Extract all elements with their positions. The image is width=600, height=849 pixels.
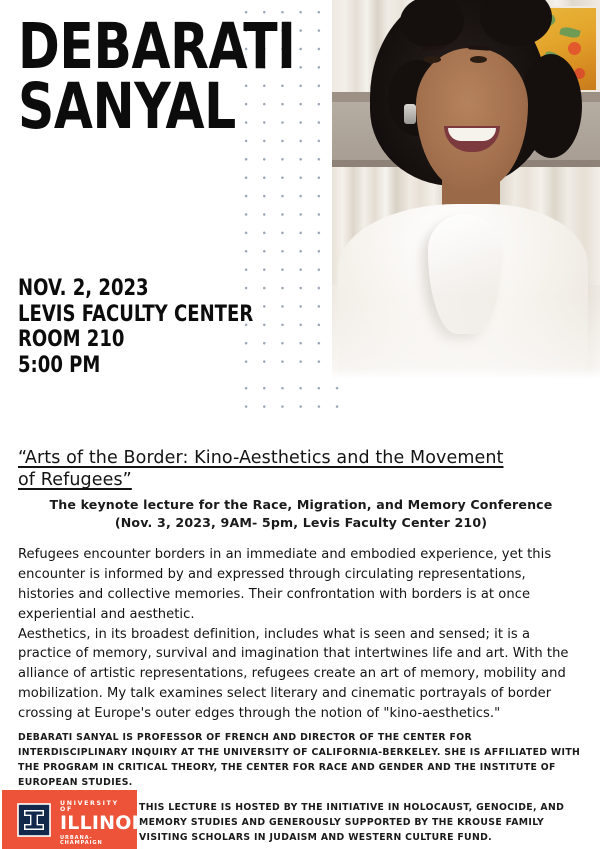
poster-footer: UNIVERSITY OF ILLINOIS URBANA-CHAMPAIGN … [0,790,600,849]
event-room: ROOM 210 [18,327,253,353]
university-of-illinois-logo: UNIVERSITY OF ILLINOIS URBANA-CHAMPAIGN [2,790,137,849]
lecture-abstract: Refugees encounter borders in an immedia… [18,545,580,724]
lecture-title-line-2: of Refugees” [18,470,132,490]
abstract-paragraph-1: Refugees encounter borders in an immedia… [18,545,580,625]
photo-bottom-fade [332,0,600,379]
sponsor-text: THIS LECTURE IS HOSTED BY THE INITIATIVE… [139,800,589,845]
speaker-portrait-photo [332,0,600,379]
event-time: 5:00 PM [18,353,253,379]
speaker-last-name: SANYAL [18,78,274,136]
event-details: NOV. 2, 2023 LEVIS FACULTY CENTER ROOM 2… [18,276,305,378]
lecture-subtitle: The keynote lecture for the Race, Migrat… [18,496,584,533]
lecture-title: “Arts of the Border: Kino-Aesthetics and… [18,447,584,492]
lecture-title-line-1: “Arts of the Border: Kino-Aesthetics and… [18,448,504,468]
illinois-logo-wordmark: UNIVERSITY OF ILLINOIS URBANA-CHAMPAIGN [60,801,134,847]
poster-hero: DEBARATI SANYAL NOV. 2, 2023 LEVIS FACUL… [0,0,600,425]
logo-name-line: ILLINOIS [60,814,134,834]
dot-grid-pattern-lower [236,378,346,418]
speaker-name: DEBARATI SANYAL [18,18,338,136]
event-date: NOV. 2, 2023 [18,276,253,302]
lecture-subtitle-line-1: The keynote lecture for the Race, Migrat… [18,496,584,514]
abstract-paragraph-2: Aesthetics, in its broadest definition, … [18,625,580,724]
logo-campus-line: URBANA-CHAMPAIGN [60,836,134,846]
speaker-bio: DEBARATI SANYAL IS PROFESSOR OF FRENCH A… [18,730,584,790]
illinois-block-i-icon [16,802,52,838]
event-venue: LEVIS FACULTY CENTER [18,302,253,328]
speaker-first-name: DEBARATI [18,18,274,76]
lecture-subtitle-line-2: (Nov. 3, 2023, 9AM- 5pm, Levis Faculty C… [18,514,584,532]
